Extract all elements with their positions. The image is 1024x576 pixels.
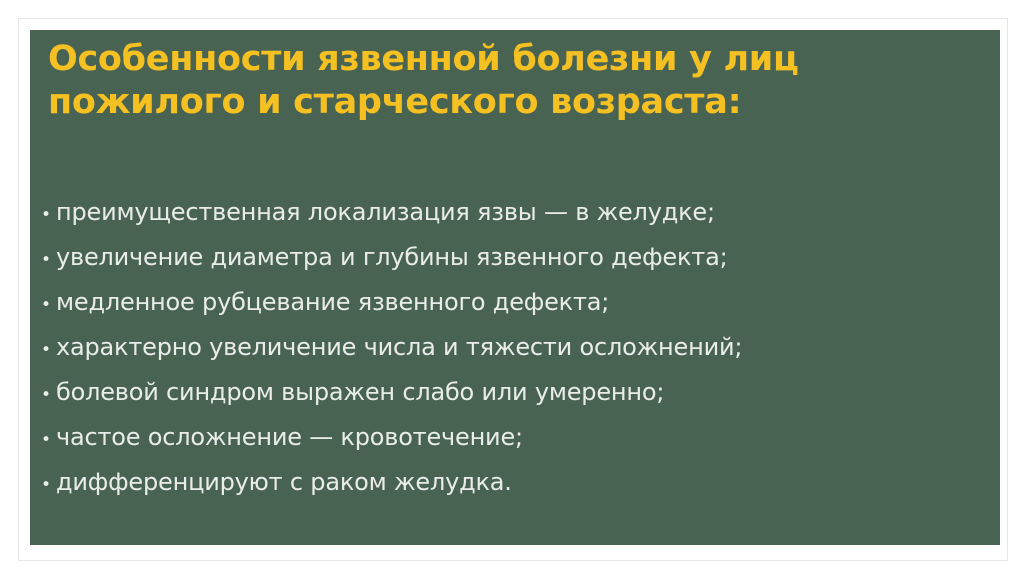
slide-content-panel: Особенности язвенной болезни у лиц пожил… <box>30 30 1000 545</box>
bullet-point-icon: • <box>36 418 56 463</box>
bullet-point-icon: • <box>36 238 56 283</box>
list-item: • дифференцируют с раком желудка. <box>36 460 986 505</box>
list-item: • болевой синдром выражен слабо или умер… <box>36 370 986 415</box>
list-item-label: медленное рубцевание язвенного дефекта; <box>56 280 609 325</box>
slide-title: Особенности язвенной болезни у лиц пожил… <box>48 38 988 124</box>
list-item: • увеличение диаметра и глубины язвенног… <box>36 235 986 280</box>
list-item-label: частое осложнение — кровотечение; <box>56 415 523 460</box>
list-item-label: дифференцируют с раком желудка. <box>56 460 512 505</box>
slide-canvas: Особенности язвенной болезни у лиц пожил… <box>0 0 1024 576</box>
list-item: • характерно увеличение числа и тяжести … <box>36 325 986 370</box>
list-item-label: увеличение диаметра и глубины язвенного … <box>56 235 727 280</box>
bullet-point-icon: • <box>36 463 56 508</box>
bullet-point-icon: • <box>36 283 56 328</box>
bullet-point-icon: • <box>36 373 56 418</box>
bullet-point-icon: • <box>36 328 56 373</box>
list-item-label: болевой синдром выражен слабо или умерен… <box>56 370 664 415</box>
bullet-list: • преимущественная локализация язвы — в … <box>36 190 986 505</box>
list-item-label: характерно увеличение числа и тяжести ос… <box>56 325 742 370</box>
list-item: • преимущественная локализация язвы — в … <box>36 190 986 235</box>
list-item: • частое осложнение — кровотечение; <box>36 415 986 460</box>
list-item-label: преимущественная локализация язвы — в же… <box>56 190 715 235</box>
list-item: • медленное рубцевание язвенного дефекта… <box>36 280 986 325</box>
bullet-point-icon: • <box>36 193 56 238</box>
